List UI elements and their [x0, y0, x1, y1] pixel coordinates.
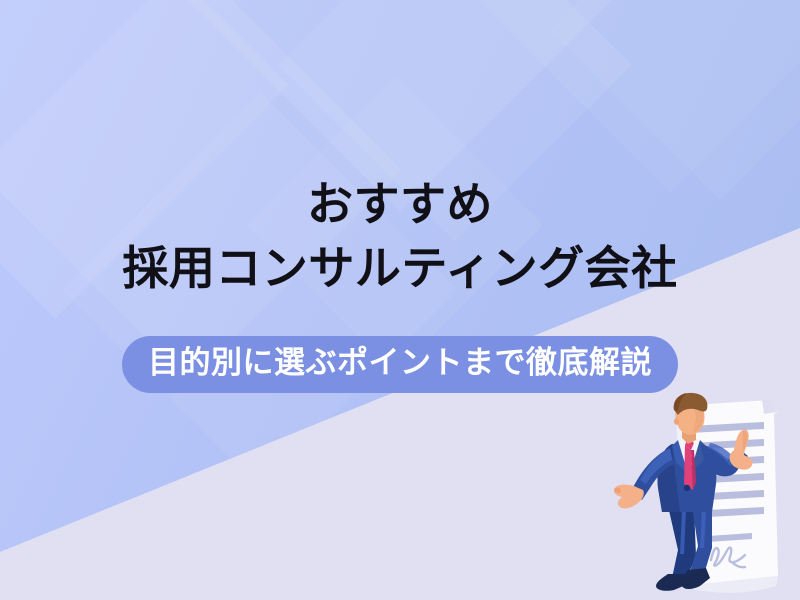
hero-banner: おすすめ 採用コンサルティング会社 目的別に選ぶポイントまで徹底解説	[0, 0, 800, 600]
businessman-with-contract-illustration	[612, 388, 800, 600]
headline-line-1: おすすめ	[0, 176, 800, 232]
headline-line-2: 採用コンサルティング会社	[0, 240, 800, 296]
page-title: おすすめ 採用コンサルティング会社	[0, 176, 800, 296]
jacket-button	[684, 485, 690, 491]
subtitle-pill: 目的別に選ぶポイントまで徹底解説	[122, 336, 678, 393]
